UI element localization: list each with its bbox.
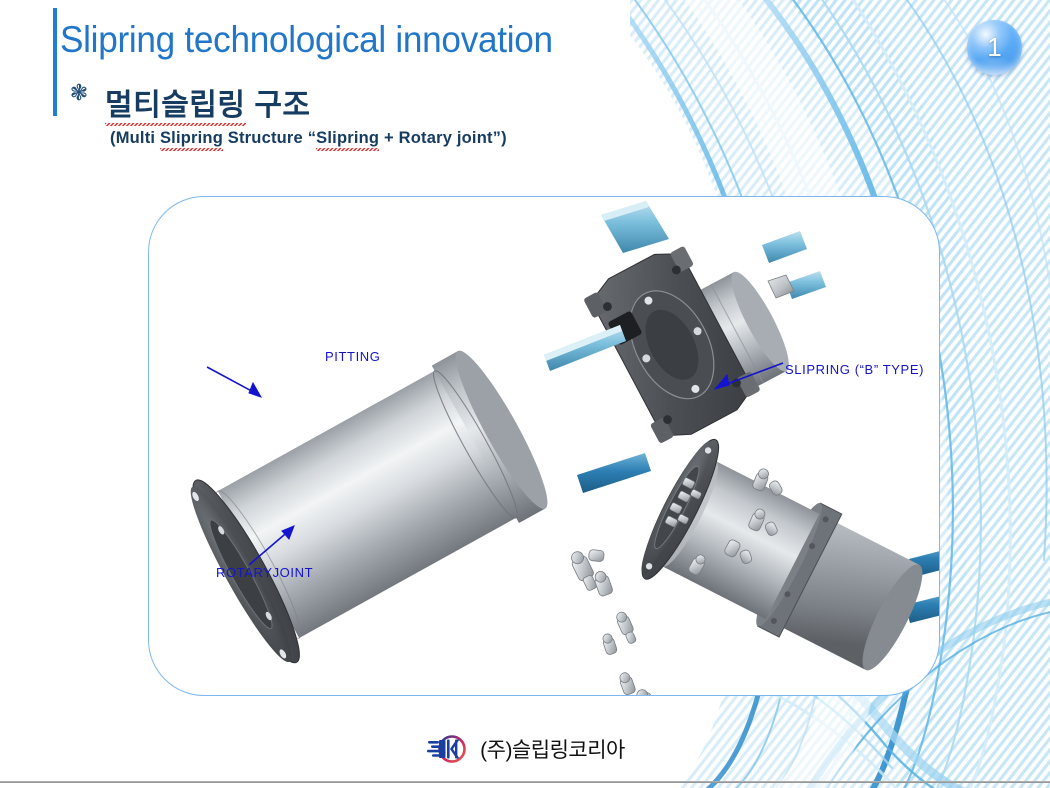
slipring-b-module-group — [544, 231, 826, 449]
subheading-misspelled-1: Slipring — [160, 129, 223, 151]
callout-label-pitting: PITTING — [325, 349, 380, 364]
company-name: (주)슬립링코리아 — [480, 734, 625, 764]
pitting-fittings — [458, 540, 658, 695]
subheading-part-3: Structure “ — [223, 129, 316, 147]
bottom-divider — [0, 781, 1050, 783]
page-number-badge: 1 — [967, 20, 1022, 75]
slide-root: Slipring technological innovation ❃ 멀티슬립… — [0, 0, 1050, 788]
content-panel — [148, 196, 940, 696]
pitting-leader — [207, 367, 261, 397]
footer: (주)슬립링코리아 — [0, 725, 1050, 773]
subheading-part-5: + Rotary joint”) — [379, 129, 507, 147]
callout-label-slipring-b-type: SLIPRING (“B” TYPE) — [785, 362, 924, 377]
page-title: Slipring technological innovation — [60, 18, 553, 62]
title-accent-bar — [53, 8, 57, 116]
technical-drawing — [149, 197, 939, 695]
subheading-misspelled-2: Slipring — [316, 129, 379, 151]
asterisk-flower-icon: ❃ — [68, 82, 90, 104]
slipring-korea-logo-icon — [425, 732, 471, 766]
subheading-part-1: (Multi — [110, 129, 160, 147]
combined-assembly-group — [577, 433, 939, 694]
section-heading-korean-rest: 구조 — [246, 89, 311, 122]
section-heading-korean-misspelled: 멀티슬립링 — [105, 89, 246, 126]
section-heading-korean: 멀티슬립링 구조 — [105, 80, 311, 124]
callout-label-rotaryjoint: ROTARYJOINT — [216, 565, 313, 580]
section-subheading-english: (Multi Slipring Structure “Slipring + Ro… — [110, 129, 507, 148]
rotary-joint-body-group — [177, 201, 669, 695]
